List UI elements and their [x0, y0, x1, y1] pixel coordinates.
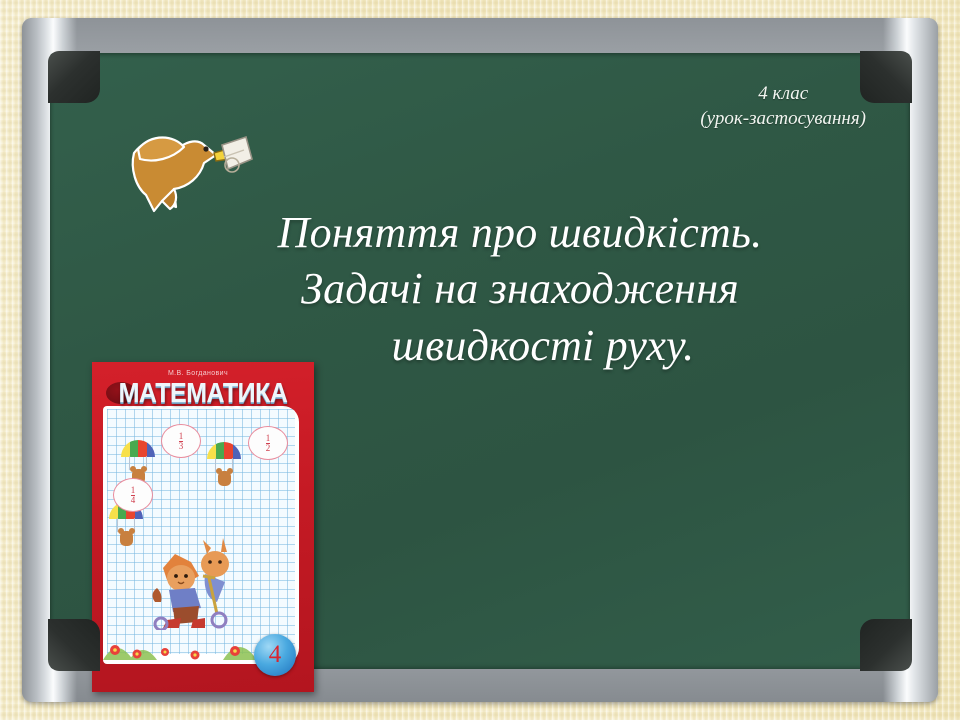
parachute-canopy-icon: [207, 442, 241, 459]
fraction-denominator: 2: [266, 443, 271, 453]
chalkboard: 4 клас (урок-застосування) Поняття про ш…: [22, 18, 938, 702]
frame-corner-top-right: [860, 51, 912, 103]
slide-title: Поняття про швидкість. Задачі на знаходж…: [170, 205, 870, 374]
fraction-numerator: 1: [131, 486, 136, 495]
board-surface: 4 клас (урок-застосування) Поняття про ш…: [50, 53, 910, 669]
cat-and-rabbit-illustration: [147, 538, 243, 630]
frame-corner-bottom-left: [48, 619, 100, 671]
fraction-bubble-3: 1 4: [113, 478, 153, 512]
fraction-denominator: 3: [179, 441, 184, 451]
title-line-1: Поняття про швидкість.: [170, 205, 870, 261]
fraction-bubble-1: 1 3: [161, 424, 201, 458]
lesson-meta: 4 клас (урок-застосування): [700, 81, 866, 131]
fraction-denominator: 4: [131, 495, 136, 505]
title-line-2: Задачі на знаходження: [170, 261, 870, 317]
fraction-bubble-2: 1 2: [248, 426, 288, 460]
textbook-cover-image: М.В. Богданович МАТЕМАТИКА 1 3: [92, 362, 314, 692]
frame-corner-bottom-right: [860, 619, 912, 671]
textbook-author: М.В. Богданович: [92, 370, 304, 377]
teddy-bear-icon: [120, 531, 133, 546]
frame-corner-top-left: [48, 51, 100, 103]
fraction-numerator: 1: [179, 432, 184, 441]
lesson-type: (урок-застосування): [700, 106, 866, 131]
textbook-grade-badge: 4: [254, 634, 296, 676]
teddy-bear-icon: [218, 471, 231, 486]
parachute-canopy-icon: [121, 440, 155, 457]
cover-illustration: 1 3 1 2: [103, 406, 299, 664]
lesson-grade: 4 клас: [700, 81, 866, 106]
fraction-numerator: 1: [266, 434, 271, 443]
textbook-title: МАТЕМАТИКА: [92, 377, 314, 409]
